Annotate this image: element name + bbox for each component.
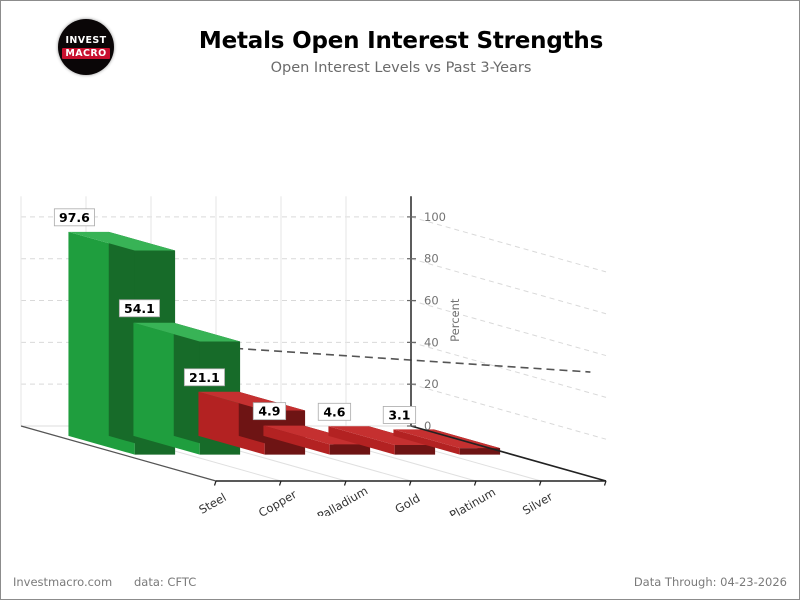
x-axis-category-labels: SteelCopperPalladiumGoldPlatinumSilver xyxy=(196,484,555,516)
value-label-steel: 97.6 xyxy=(54,209,94,226)
value-label-text: 21.1 xyxy=(189,370,220,385)
y-tick-label: 20 xyxy=(424,377,439,391)
value-label-text: 3.1 xyxy=(388,407,410,422)
category-label-platinum: Platinum xyxy=(447,485,498,516)
value-label-platinum: 4.6 xyxy=(318,403,350,420)
category-label-copper: Copper xyxy=(256,487,299,516)
y-tick-label: 100 xyxy=(424,210,446,224)
y-axis-title-text: Percent xyxy=(448,298,462,342)
y-tick-label: 60 xyxy=(424,294,439,308)
footer-site-label: Investmacro.com xyxy=(13,575,112,589)
y-axis-title: Percent xyxy=(448,298,462,342)
value-label-silver: 3.1 xyxy=(383,406,415,423)
value-label-text: 54.1 xyxy=(124,301,155,316)
footer-data-through: Data Through: 04-23-2026 xyxy=(634,575,787,589)
bar-chart-3d: 020406080100 SteelCopperPalladiumGoldPla… xyxy=(1,96,800,516)
y-tick-label: 80 xyxy=(424,252,439,266)
category-label-silver: Silver xyxy=(520,489,555,516)
value-label-gold: 4.9 xyxy=(253,403,285,420)
value-label-text: 4.9 xyxy=(258,404,280,419)
value-label-copper: 54.1 xyxy=(119,300,159,317)
chart-page: INVEST MACRO Metals Open Interest Streng… xyxy=(0,0,800,600)
category-label-palladium: Palladium xyxy=(315,484,370,516)
chart-title: Metals Open Interest Strengths xyxy=(1,28,800,54)
y-tick-label: 0 xyxy=(424,419,431,433)
value-label-palladium: 21.1 xyxy=(184,369,224,386)
category-label-steel: Steel xyxy=(196,490,228,516)
category-label-gold: Gold xyxy=(393,491,423,516)
chart-subtitle: Open Interest Levels vs Past 3-Years xyxy=(1,60,800,76)
y-axis-ticks: 020406080100 xyxy=(407,210,446,433)
footer-data-source: data: CFTC xyxy=(134,575,196,589)
value-label-text: 97.6 xyxy=(59,210,90,225)
y-tick-label: 40 xyxy=(424,335,439,349)
value-label-text: 4.6 xyxy=(323,404,345,419)
chart-plot-area: 020406080100 SteelCopperPalladiumGoldPla… xyxy=(1,96,800,516)
